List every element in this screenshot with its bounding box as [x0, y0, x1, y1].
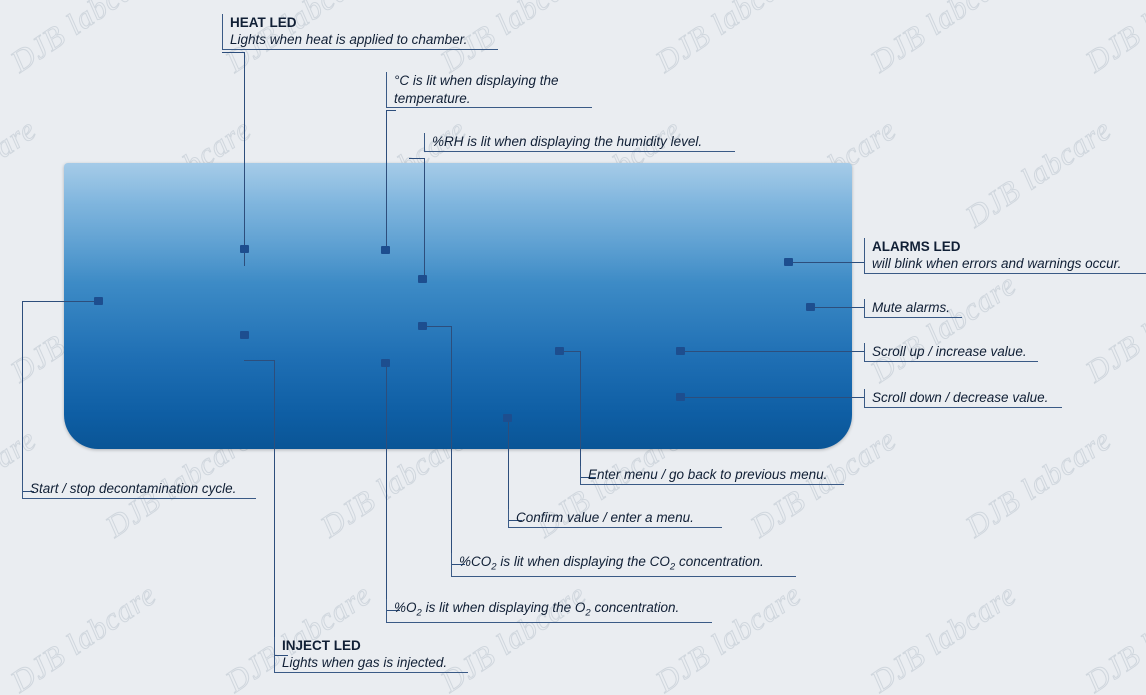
annotation-scroll-down-desc: Scroll down / decrease value.: [872, 389, 1062, 407]
annotation-alarms-led-desc: will blink when errors and warnings occu…: [872, 255, 1146, 273]
annotation-o2-post: concentration.: [591, 600, 680, 615]
watermark-text: DJB labcare: [864, 0, 1023, 80]
annotation-heat-led-desc: Lights when heat is applied to chamber.: [230, 31, 498, 49]
leader-celsius-horizontal: [386, 110, 396, 111]
watermark-text: DJB labcare: [959, 421, 1118, 544]
leader-dot-celsius: [381, 246, 390, 254]
watermark-text: DJB labcare: [4, 0, 163, 80]
annotation-alarms-led: ALARMS LED will blink when errors and wa…: [864, 238, 1146, 274]
annotation-rh-desc: %RH is lit when displaying the humidity …: [432, 133, 735, 151]
watermark-text: DJB labcare: [4, 576, 163, 695]
leader-heat-vertical: [244, 52, 245, 266]
watermark-text: DJB labcare: [959, 111, 1118, 234]
leader-dot-heat: [240, 245, 249, 253]
annotation-co2-desc: %CO2 is lit when displaying the CO2 conc…: [459, 553, 796, 576]
leader-dot-inject: [240, 331, 249, 339]
leader-dot-scrollup: [676, 347, 685, 355]
annotation-scroll-down: Scroll down / decrease value.: [864, 389, 1062, 408]
annotation-scroll-up-desc: Scroll up / increase value.: [872, 343, 1038, 361]
annotation-heat-led-title: HEAT LED: [230, 14, 498, 31]
annotation-o2: %O2 is lit when displaying the O2 concen…: [386, 599, 712, 623]
watermark-text: DJB labcare: [1079, 0, 1146, 80]
annotation-decon: Start / stop decontamination cycle.: [22, 480, 256, 499]
leader-set-vertical: [508, 420, 509, 520]
leader-dot-set: [503, 414, 512, 422]
watermark-text: DJB labcare: [649, 0, 808, 80]
annotation-co2-mid: is lit when displaying the CO: [497, 554, 670, 569]
leader-dot-alarms: [784, 258, 793, 266]
annotation-set: Confirm value / enter a menu.: [508, 509, 722, 528]
annotation-inject-led-title: INJECT LED: [282, 637, 468, 654]
leader-scrolldown-horizontal: [682, 397, 864, 398]
leader-celsius-vertical: [386, 110, 387, 250]
annotation-scroll-up: Scroll up / increase value.: [864, 343, 1038, 362]
control-panel: [64, 163, 852, 449]
annotation-menu-desc: Enter menu / go back to previous menu.: [588, 466, 844, 484]
leader-menu-vertical: [580, 351, 581, 477]
annotation-inject-led: INJECT LED Lights when gas is injected.: [274, 637, 468, 673]
annotation-co2: %CO2 is lit when displaying the CO2 conc…: [451, 553, 796, 577]
annotation-set-desc: Confirm value / enter a menu.: [516, 509, 722, 527]
annotation-co2-pre: %CO: [459, 554, 491, 569]
annotation-o2-mid: is lit when displaying the O: [422, 600, 586, 615]
annotation-heat-led: HEAT LED Lights when heat is applied to …: [222, 14, 498, 50]
annotation-celsius-desc-1: °C is lit when displaying the: [394, 72, 592, 90]
leader-decon-h1: [22, 301, 100, 302]
watermark-text: DJB labcare: [434, 576, 593, 695]
leader-dot-scrolldown: [676, 393, 685, 401]
watermark-text: DJB labcare: [0, 111, 43, 234]
leader-mute-horizontal: [812, 307, 864, 308]
leader-dot-mute: [806, 303, 815, 311]
leader-co2-h1: [424, 326, 452, 327]
leader-dot-decon: [94, 297, 103, 305]
watermark-text: DJB labcare: [649, 576, 808, 695]
watermark-text: DJB labcare: [219, 576, 378, 695]
annotation-alarms-led-title: ALARMS LED: [872, 238, 1146, 255]
leader-rh-horizontal: [409, 158, 425, 159]
watermark-text: DJB labcare: [1079, 266, 1146, 389]
annotation-o2-desc: %O2 is lit when displaying the O2 concen…: [394, 599, 712, 622]
annotation-celsius-desc-2: temperature.: [394, 90, 592, 108]
leader-o2-vertical: [386, 364, 387, 610]
annotation-menu: Enter menu / go back to previous menu.: [580, 466, 844, 485]
leader-dot-co2: [418, 322, 427, 330]
annotation-co2-post: concentration.: [675, 554, 764, 569]
annotation-o2-pre: %O: [394, 600, 417, 615]
annotation-rh: %RH is lit when displaying the humidity …: [424, 133, 735, 152]
leader-inject-h0: [244, 360, 274, 361]
annotation-celsius: °C is lit when displaying the temperatur…: [386, 72, 592, 108]
leader-co2-vertical: [451, 326, 452, 564]
annotation-inject-led-desc: Lights when gas is injected.: [282, 654, 468, 672]
leader-dot-o2: [381, 359, 390, 367]
panel-gloss: [64, 163, 852, 283]
annotation-decon-desc: Start / stop decontamination cycle.: [30, 480, 256, 498]
leader-dot-menu: [555, 347, 564, 355]
watermark-text: DJB labcare: [864, 576, 1023, 695]
leader-dot-rh: [418, 275, 427, 283]
leader-inject-vertical: [274, 360, 275, 655]
leader-rh-vertical: [424, 158, 425, 280]
leader-heat-horizontal: [222, 52, 245, 53]
annotation-mute: Mute alarms.: [864, 299, 962, 318]
leader-menu-h1: [561, 351, 581, 352]
watermark-text: DJB labcare: [1079, 576, 1146, 695]
leader-alarms-horizontal: [790, 262, 864, 263]
watermark-text: DJB labcare: [864, 266, 1023, 389]
leader-scrollup-horizontal: [682, 351, 864, 352]
leader-decon-vertical: [22, 301, 23, 491]
annotation-mute-desc: Mute alarms.: [872, 299, 962, 317]
